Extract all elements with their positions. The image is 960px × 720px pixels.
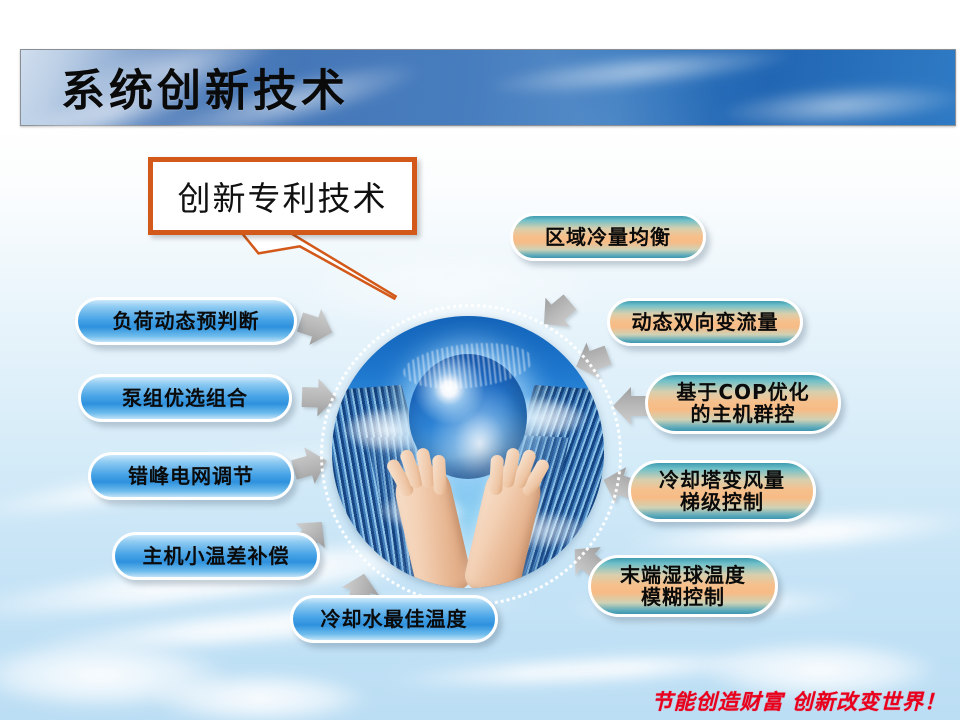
page-title: 系统创新技术 — [61, 54, 349, 118]
node-right-3[interactable]: 基于COP优化 的主机群控 — [645, 372, 841, 434]
node-left-3-label: 错峰电网调节 — [128, 465, 254, 487]
node-right-1[interactable]: 区域冷量均衡 — [510, 213, 706, 261]
title-banner: 系统创新技术 — [20, 49, 956, 126]
node-right-4[interactable]: 冷却塔变风量 梯级控制 — [628, 460, 816, 522]
node-right-4-label: 冷却塔变风量 梯级控制 — [659, 469, 785, 514]
node-right-5-label: 末端湿球温度 模糊控制 — [620, 564, 746, 609]
node-right-2[interactable]: 动态双向变流量 — [607, 298, 803, 346]
node-left-4-label: 主机小温差补偿 — [143, 545, 290, 567]
slide-canvas: 系统创新技术 — [0, 0, 960, 720]
footer-slogan: 节能创造财富 创新改变世界！ — [652, 686, 946, 716]
callout-box[interactable]: 创新专利技术 — [148, 157, 417, 235]
node-left-2[interactable]: 泵组优选组合 — [78, 374, 292, 422]
node-left-3[interactable]: 错峰电网调节 — [88, 452, 294, 500]
node-left-2-label: 泵组优选组合 — [122, 387, 248, 409]
node-right-2-label: 动态双向变流量 — [632, 311, 779, 333]
node-right-1-label: 区域冷量均衡 — [545, 226, 671, 248]
callout-innovation-patent[interactable]: 创新专利技术 — [140, 150, 440, 305]
node-right-3-label: 基于COP优化 的主机群控 — [676, 381, 809, 426]
node-right-5[interactable]: 末端湿球温度 模糊控制 — [588, 555, 778, 617]
node-left-4[interactable]: 主机小温差补偿 — [112, 532, 320, 580]
center-globe-image — [332, 316, 604, 588]
node-left-5[interactable]: 冷却水最佳温度 — [290, 595, 498, 643]
node-left-1-label: 负荷动态预判断 — [113, 310, 260, 332]
node-left-5-label: 冷却水最佳温度 — [321, 608, 468, 630]
callout-label: 创新专利技术 — [178, 172, 388, 220]
